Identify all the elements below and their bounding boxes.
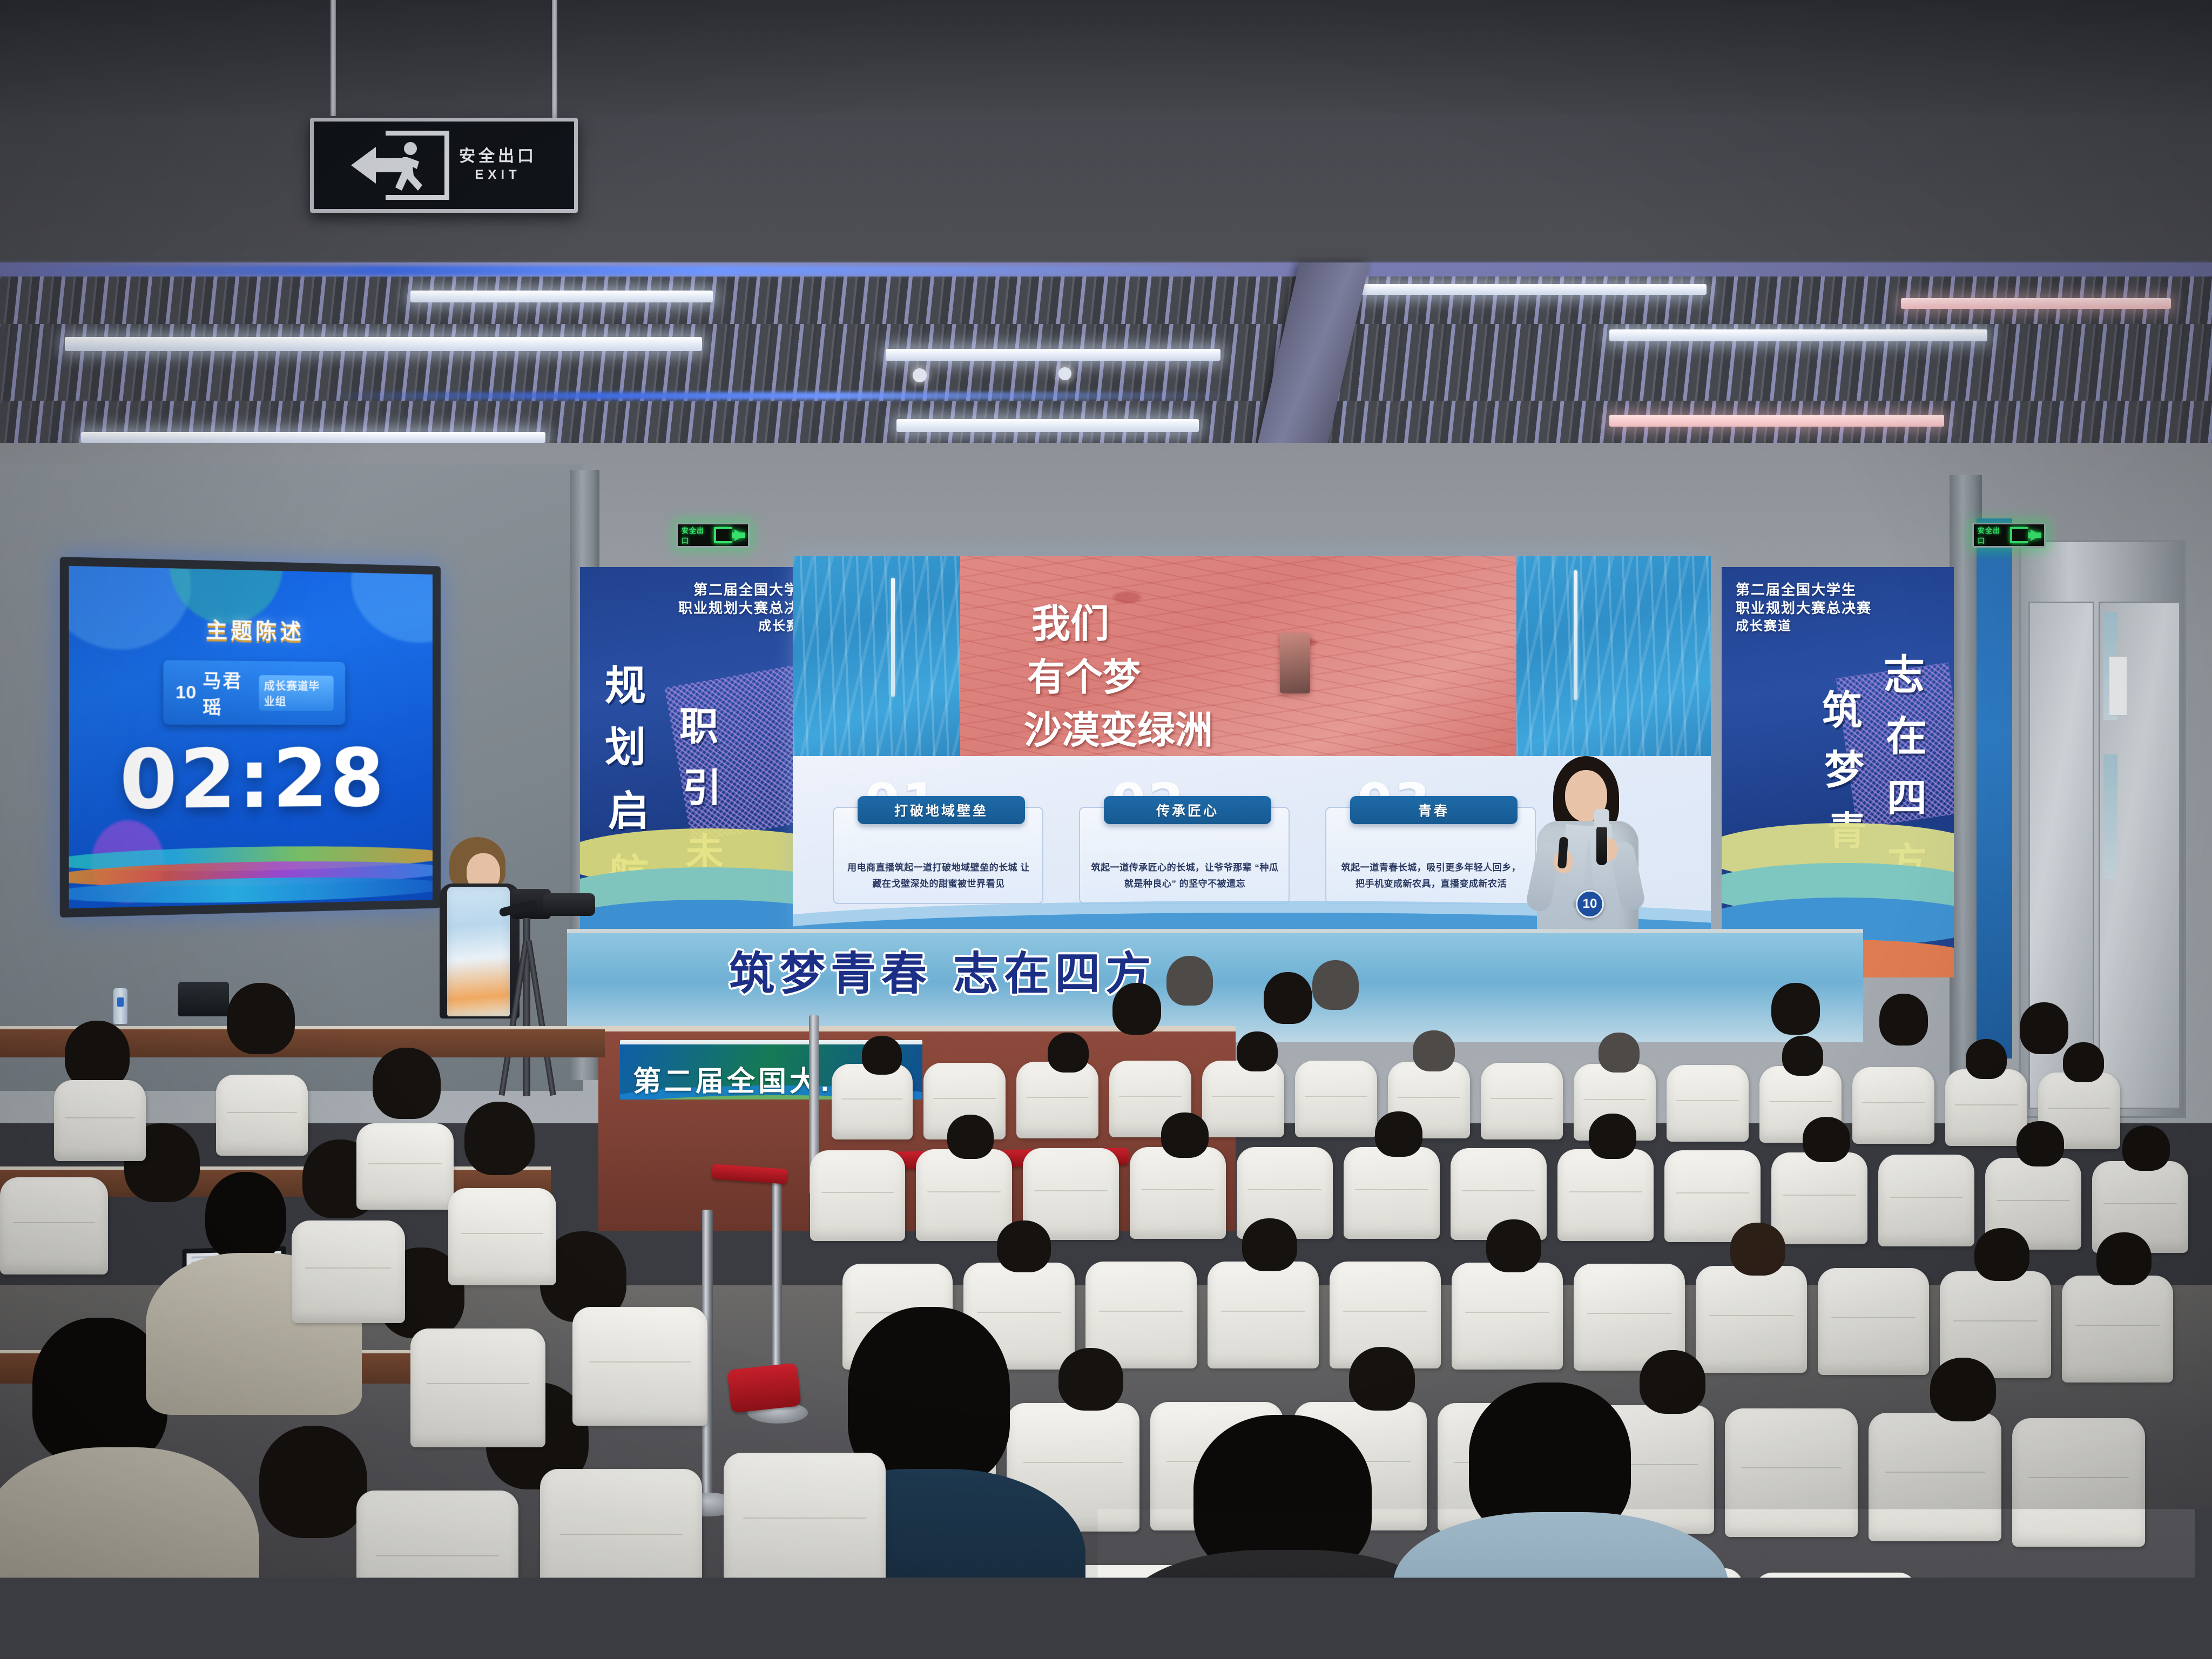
audience-seat xyxy=(1452,1263,1563,1370)
audience-head xyxy=(1879,994,1928,1046)
audience-seat xyxy=(832,1064,913,1139)
queue-rope xyxy=(727,1363,801,1413)
ceiling-tube-light xyxy=(81,432,545,443)
banner-calligraphy-char: 职 xyxy=(679,694,718,751)
audience-head xyxy=(1058,1348,1123,1411)
audience-seat xyxy=(356,1491,518,1631)
contestant-number: 10 xyxy=(176,682,196,703)
audience-head xyxy=(1930,1358,1996,1421)
audience-head xyxy=(373,1048,441,1119)
wall-exit-sign-label: 安全出口 xyxy=(682,525,711,545)
exit-sign-rod-left xyxy=(331,0,336,116)
banner-calligraphy-char: 志 xyxy=(1884,642,1925,701)
audience-seat xyxy=(572,1307,707,1426)
ceiling-spot-lamp xyxy=(913,368,927,382)
audience-head xyxy=(1112,983,1161,1035)
door-notice-paper xyxy=(2109,656,2127,716)
banner-calligraphy-char: 划 xyxy=(605,714,646,773)
water-bottle xyxy=(113,988,127,1024)
ceiling-tube-light xyxy=(896,419,1199,432)
audience-seat xyxy=(2012,1418,2145,1547)
stage-front-wall: 筑梦青春 志在四方 xyxy=(567,929,1863,1042)
banner-header-line2: 职业规划大赛总决赛 xyxy=(1736,599,1872,618)
banner-calligraphy-char: 筑 xyxy=(1822,678,1862,736)
audience-head xyxy=(1166,956,1213,1006)
audience-head xyxy=(1771,983,1820,1035)
audience-head xyxy=(2122,1125,2170,1171)
audience-seat xyxy=(1696,1266,1807,1373)
stage-banner-left: 第二届全国大学生 职业规划大赛总决赛 成长赛道 规 划 启 航 职 引 未 来 xyxy=(580,567,823,977)
audience-seat xyxy=(410,1328,545,1447)
audience-seat xyxy=(1344,1147,1440,1239)
audience-seat xyxy=(1557,1149,1654,1241)
slide-card-text: 筑起一道青春长城，吸引更多年轻人回乡，把手机变成新农具，直播变成新农活 xyxy=(1337,860,1525,892)
audience-seat xyxy=(448,1188,556,1285)
audience-head xyxy=(1242,1218,1297,1271)
contestant-name: 马君瑶 xyxy=(203,666,252,719)
countdown-clock: 02:28 xyxy=(69,732,433,829)
speaker-number-badge: 10 xyxy=(1576,890,1604,918)
audience-seat xyxy=(1725,1408,1858,1537)
audience-seat xyxy=(54,1080,146,1161)
slide-card-03: 03 筑起一道青春长城，吸引更多年轻人回乡，把手机变成新农具，直播变成新农活 青… xyxy=(1325,781,1536,905)
banner-header-line2: 职业规划大赛总决赛 xyxy=(580,599,814,618)
thermos-flask xyxy=(178,982,229,1016)
audience-head xyxy=(227,983,295,1054)
wall-exit-sign-label: 安全出口 xyxy=(1978,525,2007,545)
banner-calligraphy-char: 启 xyxy=(608,778,649,837)
slide-card-01: 01 用电商直播筑起一道打破地域壁垒的长城 让藏在戈壁深处的甜蜜被世界看见 打破… xyxy=(833,781,1043,905)
door-leaf-right[interactable] xyxy=(2099,602,2181,1109)
audience-head xyxy=(1413,1030,1455,1071)
banner-calligraphy-char: 梦 xyxy=(1824,738,1864,795)
ceiling-tube-light xyxy=(410,291,713,302)
audience-shoulders-foreground xyxy=(0,1447,259,1659)
audience-head xyxy=(259,1426,367,1538)
audience-seat xyxy=(1208,1262,1319,1368)
slide-card-title-pill: 传承匠心 xyxy=(1104,796,1271,824)
audience-head xyxy=(1349,1347,1415,1411)
ceiling-blue-glow xyxy=(324,392,1242,400)
camera-lens xyxy=(543,893,595,916)
audience-seat xyxy=(1928,1578,2091,1659)
exit-arrow-right-icon xyxy=(734,529,744,541)
audience-head xyxy=(997,1220,1051,1272)
slide-slogan-line: 有个梦 xyxy=(1027,647,1141,702)
audience-head xyxy=(1264,972,1312,1024)
stage-front-banner-text: 筑梦青春 志在四方 xyxy=(729,938,1156,1003)
slide-card-text: 筑起一道传承匠心的长城，让爷爷那辈 “种瓜就是种良心” 的坚守不被遗忘 xyxy=(1091,860,1279,892)
slide-card-title: 传承匠心 xyxy=(1156,800,1219,820)
audience-seat xyxy=(1667,1065,1749,1142)
audience-head xyxy=(205,1172,286,1260)
audience-head xyxy=(1237,1031,1278,1071)
slide-photo-cornfield-left xyxy=(793,556,960,761)
slide-card-title-pill: 青春 xyxy=(1350,796,1518,824)
microphone[interactable] xyxy=(1596,825,1607,865)
audience-head xyxy=(1161,1112,1209,1158)
hanging-exit-sign: 安全出口 EXIT xyxy=(310,118,578,213)
banner-header-line3: 成长赛道 xyxy=(1736,618,1872,635)
audience-head xyxy=(1048,1033,1089,1073)
wall-blue-column xyxy=(1977,518,2012,1058)
audience-head xyxy=(2096,1232,2152,1285)
audience-head xyxy=(1375,1111,1422,1157)
exit-sign-en-label: EXIT xyxy=(475,167,521,183)
audience-head xyxy=(1486,1219,1541,1272)
volunteer-vest xyxy=(447,887,510,1016)
audience-head xyxy=(1803,1117,1850,1162)
slide-slogan-line: 我们 xyxy=(1031,592,1109,649)
wall-exit-sign-right: 安全出口 xyxy=(1972,523,2046,548)
ceiling-tube-light xyxy=(65,337,702,351)
audience-head xyxy=(1974,1228,2029,1281)
audience-seat xyxy=(216,1075,308,1156)
audience-seat xyxy=(1481,1063,1563,1139)
banner-calligraphy-char: 规 xyxy=(605,652,646,712)
banner-calligraphy-char: 四 xyxy=(1887,766,1927,824)
audience-head xyxy=(2020,1002,2068,1054)
audience-head xyxy=(862,1036,902,1075)
audience-head xyxy=(1782,1036,1823,1076)
audience-head xyxy=(464,1102,535,1175)
audience-head xyxy=(1966,1039,2007,1079)
door-glass-panel xyxy=(2103,754,2117,879)
exit-door-icon xyxy=(714,527,732,543)
slide-slogan-line: 沙漠变绿洲 xyxy=(1024,700,1213,754)
running-person-icon xyxy=(389,141,437,199)
audience-seat xyxy=(1295,1061,1377,1137)
microphone-head xyxy=(1594,809,1609,827)
slide-card-02: 02 筑起一道传承匠心的长城，让爷爷那辈 “种瓜就是种良心” 的坚守不被遗忘 传… xyxy=(1079,781,1290,905)
timer-screen-title: 主题陈述 xyxy=(69,610,433,647)
audience-seat xyxy=(1818,1268,1929,1375)
ceiling-spot-lamp xyxy=(1058,367,1071,380)
slide-card-text: 用电商直播筑起一道打破地域壁垒的长城 让藏在戈壁深处的甜蜜被世界看见 xyxy=(845,860,1033,892)
ceiling-tube-light xyxy=(886,349,1220,361)
banner-header-line3: 成长赛道 xyxy=(580,618,814,635)
banner-calligraphy-char: 引 xyxy=(683,756,721,813)
podium-banner-text: 第二届全国大... xyxy=(633,1058,854,1099)
audience-seat xyxy=(1754,1573,1917,1659)
audience-seat xyxy=(1869,1413,2001,1541)
stage-banner-right: 第二届全国大学生 职业规划大赛总决赛 成长赛道 筑 梦 青 春 志 在 四 方 xyxy=(1722,567,1954,977)
exit-sign-cn-label: 安全出口 xyxy=(459,148,537,165)
ceiling-blue-glow xyxy=(0,266,1285,275)
audience-seat xyxy=(724,1453,886,1593)
contestant-track-badge: 成长赛道毕业组 xyxy=(259,675,334,711)
audience-shoulders-foreground xyxy=(1393,1512,1728,1659)
audience-head xyxy=(1312,960,1359,1010)
audience-seat xyxy=(916,1149,1012,1241)
audience-seat xyxy=(1878,1155,1974,1246)
slide-photo-cornfield-right xyxy=(1516,556,1711,761)
audience-head xyxy=(1589,1114,1636,1159)
audience-seat xyxy=(1852,1067,1934,1144)
audience-seat xyxy=(356,1123,454,1210)
audience-seat xyxy=(292,1220,405,1323)
auditorium-photo: 安全出口 EXIT xyxy=(0,0,2212,1659)
slide-photo-desert: 我们 有个梦 沙漠变绿洲 xyxy=(960,556,1516,761)
ceiling-tube-light xyxy=(1361,284,1707,295)
audience-seat xyxy=(1016,1062,1098,1138)
slide-photo-object xyxy=(1280,633,1310,693)
audience-seat xyxy=(1771,1152,1867,1244)
slide-card-title-pill: 打破地域壁垒 xyxy=(858,796,1025,824)
contestant-nameplate: 10 马君瑶 成长赛道毕业组 xyxy=(164,660,346,725)
audience-head xyxy=(65,1021,130,1089)
ceiling-tube-light xyxy=(1609,415,1944,427)
audience-head xyxy=(1640,1350,1705,1414)
countdown-timer-screen: 主题陈述 10 马君瑶 成长赛道毕业组 02:28 xyxy=(60,557,441,918)
audience-seat xyxy=(2102,1584,2212,1659)
audience-head xyxy=(1730,1223,1785,1276)
banner-calligraphy-char: 在 xyxy=(1886,703,1927,763)
banner-header-line1: 第二届全国大学生 xyxy=(1736,581,1872,599)
audience-head xyxy=(2017,1121,2064,1166)
banner-header-line1: 第二届全国大学生 xyxy=(580,581,814,599)
ceiling-tube-light xyxy=(1901,298,2171,309)
slide-card-title: 青春 xyxy=(1418,800,1449,820)
ceiling-tube-light xyxy=(1609,329,1987,341)
audience-seat xyxy=(1130,1147,1226,1239)
wall-exit-sign-left: 安全出口 xyxy=(676,523,750,548)
exit-arrow-left-icon xyxy=(351,147,376,184)
audience-head xyxy=(2063,1042,2104,1082)
audience-seat xyxy=(540,1469,702,1609)
audience-seat xyxy=(2062,1276,2173,1382)
exit-arrow-right-icon xyxy=(2031,529,2040,541)
audience-seat xyxy=(1945,1069,2027,1146)
exit-door-icon xyxy=(386,131,449,200)
audience-seat xyxy=(1202,1061,1284,1137)
audience-head xyxy=(947,1115,994,1159)
exit-door-icon xyxy=(2010,527,2028,543)
audience-head xyxy=(1599,1033,1640,1073)
audience-seat xyxy=(810,1150,905,1241)
slide-card-title: 打破地域壁垒 xyxy=(894,800,988,820)
exit-sign-rod-right xyxy=(552,0,557,129)
ceiling: 安全出口 EXIT xyxy=(0,0,2212,475)
audience-seat xyxy=(0,1177,108,1274)
